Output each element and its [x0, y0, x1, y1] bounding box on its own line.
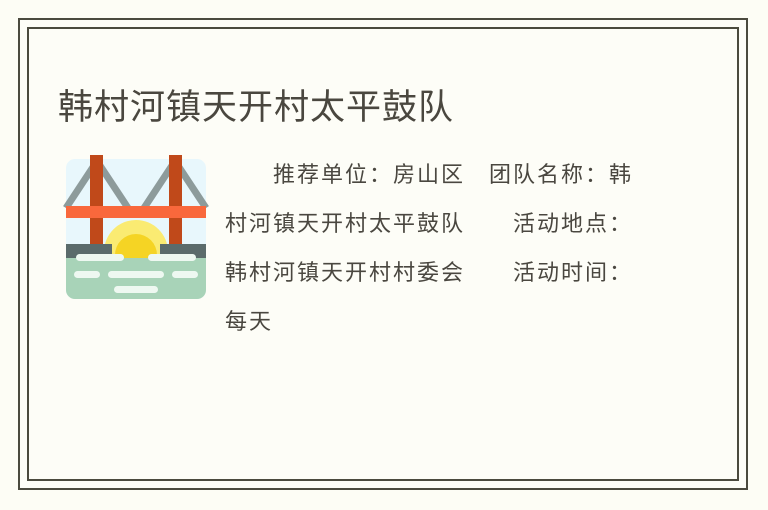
- page-root: 韩村河镇天开村太平鼓队: [0, 0, 768, 510]
- page-content: 韩村河镇天开村太平鼓队: [27, 27, 739, 481]
- bridge-sunset-illustration: [62, 155, 210, 303]
- page-title: 韩村河镇天开村太平鼓队: [58, 86, 454, 130]
- record-description: 推荐单位：房山区 团队名称：韩村河镇天开村太平鼓队 活动地点：韩村河镇天开村村委…: [225, 151, 655, 347]
